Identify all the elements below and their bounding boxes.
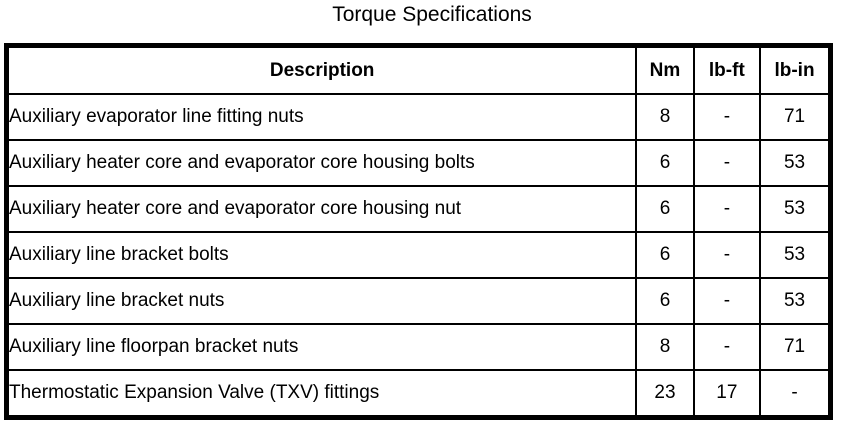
cell-nm: 23 — [636, 370, 693, 418]
table-row: Thermostatic Expansion Valve (TXV) fitti… — [7, 370, 831, 418]
cell-lb-ft: - — [694, 278, 760, 324]
table-row: Auxiliary line bracket bolts 6 - 53 — [7, 232, 831, 278]
cell-lb-in: 53 — [760, 186, 830, 232]
cell-description: Auxiliary evaporator line fitting nuts — [7, 94, 637, 140]
cell-lb-ft: - — [694, 186, 760, 232]
table-row: Auxiliary heater core and evaporator cor… — [7, 140, 831, 186]
table-body: Auxiliary evaporator line fitting nuts 8… — [7, 94, 831, 418]
table-row: Auxiliary line floorpan bracket nuts 8 -… — [7, 324, 831, 370]
cell-nm: 6 — [636, 140, 693, 186]
cell-lb-in: 71 — [760, 94, 830, 140]
table-header: Description Nm lb-ft lb-in — [7, 46, 831, 95]
table-row: Auxiliary line bracket nuts 6 - 53 — [7, 278, 831, 324]
column-header-lb-in: lb-in — [760, 46, 830, 95]
cell-description: Auxiliary line bracket nuts — [7, 278, 637, 324]
cell-lb-in: - — [760, 370, 830, 418]
cell-lb-in: 71 — [760, 324, 830, 370]
cell-lb-in: 53 — [760, 140, 830, 186]
table-row: Auxiliary heater core and evaporator cor… — [7, 186, 831, 232]
table-header-row: Description Nm lb-ft lb-in — [7, 46, 831, 95]
column-header-description: Description — [7, 46, 637, 95]
cell-description: Auxiliary heater core and evaporator cor… — [7, 140, 637, 186]
cell-lb-ft: - — [694, 140, 760, 186]
cell-lb-in: 53 — [760, 278, 830, 324]
torque-specifications-page: Torque Specifications Description Nm lb-… — [0, 0, 864, 436]
cell-description: Auxiliary heater core and evaporator cor… — [7, 186, 637, 232]
cell-nm: 8 — [636, 324, 693, 370]
cell-description: Thermostatic Expansion Valve (TXV) fitti… — [7, 370, 637, 418]
column-header-lb-ft: lb-ft — [694, 46, 760, 95]
cell-description: Auxiliary line bracket bolts — [7, 232, 637, 278]
cell-lb-ft: 17 — [694, 370, 760, 418]
cell-lb-ft: - — [694, 324, 760, 370]
cell-lb-ft: - — [694, 232, 760, 278]
table-row: Auxiliary evaporator line fitting nuts 8… — [7, 94, 831, 140]
cell-description: Auxiliary line floorpan bracket nuts — [7, 324, 637, 370]
page-title: Torque Specifications — [0, 2, 864, 28]
cell-lb-ft: - — [694, 94, 760, 140]
cell-nm: 8 — [636, 94, 693, 140]
cell-nm: 6 — [636, 278, 693, 324]
cell-nm: 6 — [636, 186, 693, 232]
torque-table-container: Description Nm lb-ft lb-in Auxiliary eva… — [4, 43, 833, 420]
cell-nm: 6 — [636, 232, 693, 278]
torque-specifications-table: Description Nm lb-ft lb-in Auxiliary eva… — [4, 43, 833, 420]
cell-lb-in: 53 — [760, 232, 830, 278]
column-header-nm: Nm — [636, 46, 693, 95]
